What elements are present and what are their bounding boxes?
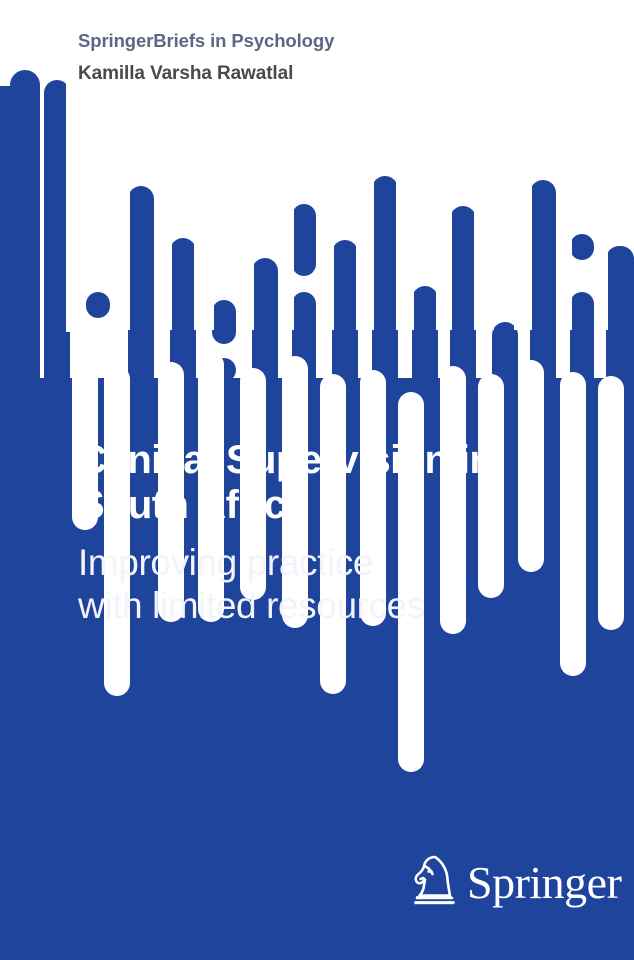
book-cover: SpringerBriefs in Psychology Kamilla Var… [0,0,634,960]
bar-dot [86,292,110,318]
author-name: Kamilla Varsha Rawatlal [78,63,293,85]
bar-segment [292,204,316,276]
bar-dot [570,234,594,260]
subtitle-line-2: with limited resources [78,585,598,628]
series-title: SpringerBriefs in Psychology [78,30,334,52]
bar-left-slab-cap [10,70,40,130]
title-line-1: Clinical Supervision in [78,438,598,483]
bar-segment [212,300,236,344]
springer-wordmark: Springer [467,860,621,906]
title-block: Clinical Supervision in South Africa Imp… [78,438,598,627]
subtitle-block: Improving practice with limited resource… [78,542,598,628]
subtitle-line-1: Improving practice [78,542,598,585]
bar-left-slab [0,86,40,960]
springer-logo: Springer [409,852,621,910]
bar-notch [598,376,624,630]
title-line-2: South Africa [78,483,598,528]
springer-knight-icon [409,852,461,910]
